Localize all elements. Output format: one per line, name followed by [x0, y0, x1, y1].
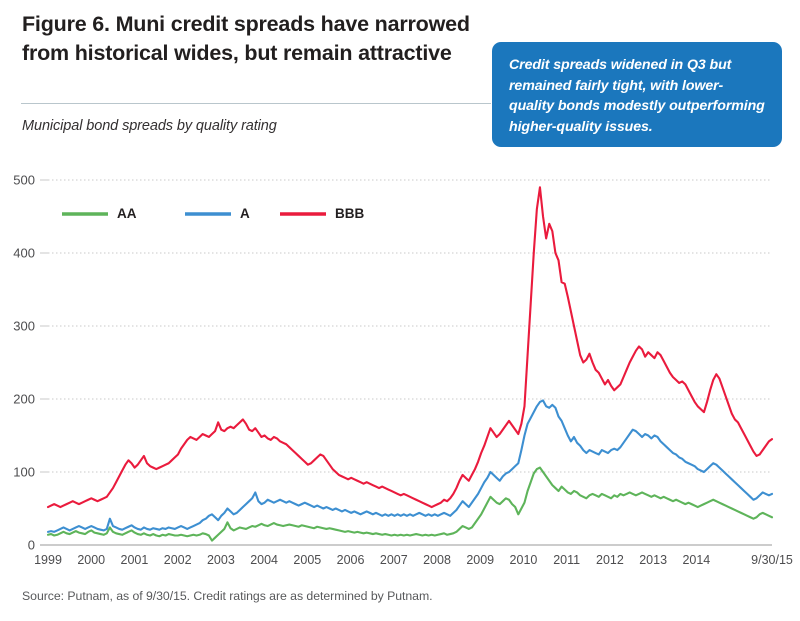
chart-legend: AAABBB: [62, 206, 364, 221]
chart-series: [48, 187, 772, 540]
svg-text:2014: 2014: [682, 553, 710, 567]
svg-text:A: A: [240, 206, 250, 221]
svg-text:2009: 2009: [466, 553, 494, 567]
svg-text:2003: 2003: [207, 553, 235, 567]
line-chart: 0100200300400500 19992000200120022003200…: [0, 0, 800, 621]
svg-text:2004: 2004: [250, 553, 278, 567]
svg-text:2001: 2001: [121, 553, 149, 567]
svg-text:400: 400: [13, 246, 35, 261]
svg-text:2005: 2005: [293, 553, 321, 567]
svg-text:2010: 2010: [510, 553, 538, 567]
svg-text:200: 200: [13, 392, 35, 407]
svg-text:300: 300: [13, 319, 35, 334]
svg-text:500: 500: [13, 173, 35, 188]
svg-text:2013: 2013: [639, 553, 667, 567]
svg-text:0: 0: [28, 538, 35, 553]
svg-text:2000: 2000: [77, 553, 105, 567]
svg-text:9/30/15: 9/30/15: [751, 553, 793, 567]
svg-text:AA: AA: [117, 206, 137, 221]
x-axis-tick-labels: 1999200020012002200320042005200620072008…: [34, 553, 793, 567]
svg-text:100: 100: [13, 465, 35, 480]
chart-gridlines: [48, 180, 772, 472]
svg-text:2008: 2008: [423, 553, 451, 567]
svg-text:2012: 2012: [596, 553, 624, 567]
source-note: Source: Putnam, as of 9/30/15. Credit ra…: [22, 589, 433, 603]
y-axis-tick-labels: 0100200300400500: [13, 173, 48, 553]
chart-container: 0100200300400500 19992000200120022003200…: [0, 0, 800, 621]
svg-text:2002: 2002: [164, 553, 192, 567]
svg-text:BBB: BBB: [335, 206, 364, 221]
svg-text:1999: 1999: [34, 553, 62, 567]
svg-text:2007: 2007: [380, 553, 408, 567]
svg-text:2011: 2011: [553, 553, 580, 567]
svg-text:2006: 2006: [337, 553, 365, 567]
